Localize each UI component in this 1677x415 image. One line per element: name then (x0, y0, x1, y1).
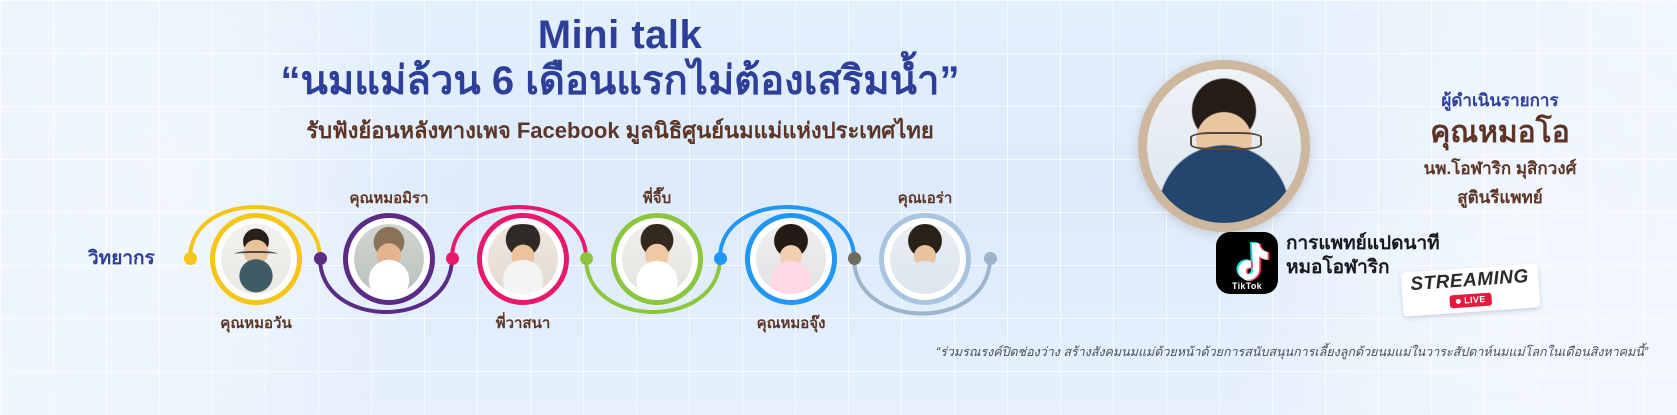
host-photo (1147, 69, 1301, 223)
speaker-photo-1 (221, 224, 291, 294)
live-dot-icon (1456, 299, 1461, 304)
connector-dot-1 (184, 252, 197, 265)
speaker-avatar-4[interactable] (611, 213, 703, 305)
host-info-block: ผู้ดำเนินรายการ คุณหมอโอ นพ.โอฬาริก มุสิ… (1330, 90, 1670, 209)
tiktok-badge[interactable]: TikTok (1216, 232, 1278, 294)
connector-dot-6 (848, 252, 861, 265)
live-label: LIVE (1464, 294, 1486, 305)
speaker-name-1: คุณหมอวัน (186, 311, 326, 335)
connector-dot-7 (984, 252, 997, 265)
connector-dot-5 (714, 252, 727, 265)
connector-dot-4 (580, 252, 593, 265)
headline-mini-talk: Mini talk (180, 14, 1060, 56)
speaker-avatar-3[interactable] (477, 213, 569, 305)
speaker-name-4: พี่จี๊บ (587, 186, 727, 210)
speakers-section-label: วิทยากร (88, 243, 155, 273)
channel-name-line1: การแพทย์แปดนาที (1286, 232, 1440, 256)
speaker-avatar-5[interactable] (745, 213, 837, 305)
speaker-photo-6 (890, 224, 960, 294)
speaker-photo-4 (622, 224, 692, 294)
headline-subtitle: รับฟังย้อนหลังทางเพจ Facebook มูลนิธิศูน… (180, 118, 1060, 144)
speaker-photo-5 (756, 224, 826, 294)
speaker-photo-2 (354, 224, 424, 294)
speaker-name-6: คุณเอร่า (855, 186, 995, 210)
tiktok-wordmark: TikTok (1216, 281, 1278, 291)
host-avatar[interactable] (1138, 60, 1310, 232)
live-badge: LIVE (1450, 293, 1492, 309)
mini-talk-banner: Mini talk “นมแม่ล้วน 6 เดือนแรกไม่ต้องเส… (0, 0, 1677, 415)
streaming-badge: STREAMING LIVE (1401, 263, 1540, 316)
footer-note: “ร่วมรณรงค์ปิดช่องว่าง สร้างสังคมนมแม่ด้… (848, 342, 1648, 362)
host-nickname: คุณหมอโอ (1330, 114, 1670, 152)
connector-dot-2 (314, 252, 327, 265)
host-specialty: สูตินรีแพทย์ (1330, 187, 1670, 210)
speaker-avatar-2[interactable] (343, 213, 435, 305)
headline-block: Mini talk “นมแม่ล้วน 6 เดือนแรกไม่ต้องเส… (180, 14, 1060, 144)
speaker-name-5: คุณหมอจุ๊ง (721, 311, 861, 335)
tiktok-icon: TikTok (1216, 232, 1278, 294)
speaker-avatar-6[interactable] (879, 213, 971, 305)
host-role-label: ผู้ดำเนินรายการ (1330, 90, 1670, 112)
speaker-name-3: พี่วาสนา (453, 311, 593, 335)
speaker-photo-3 (488, 224, 558, 294)
speaker-name-2: คุณหมอมิรา (319, 186, 459, 210)
headline-topic: “นมแม่ล้วน 6 เดือนแรกไม่ต้องเสริมน้ำ” (180, 58, 1060, 104)
host-fullname: นพ.โอฬาริก มุสิกวงศ์ (1330, 158, 1670, 181)
connector-dot-3 (446, 252, 459, 265)
speaker-avatar-1[interactable] (210, 213, 302, 305)
